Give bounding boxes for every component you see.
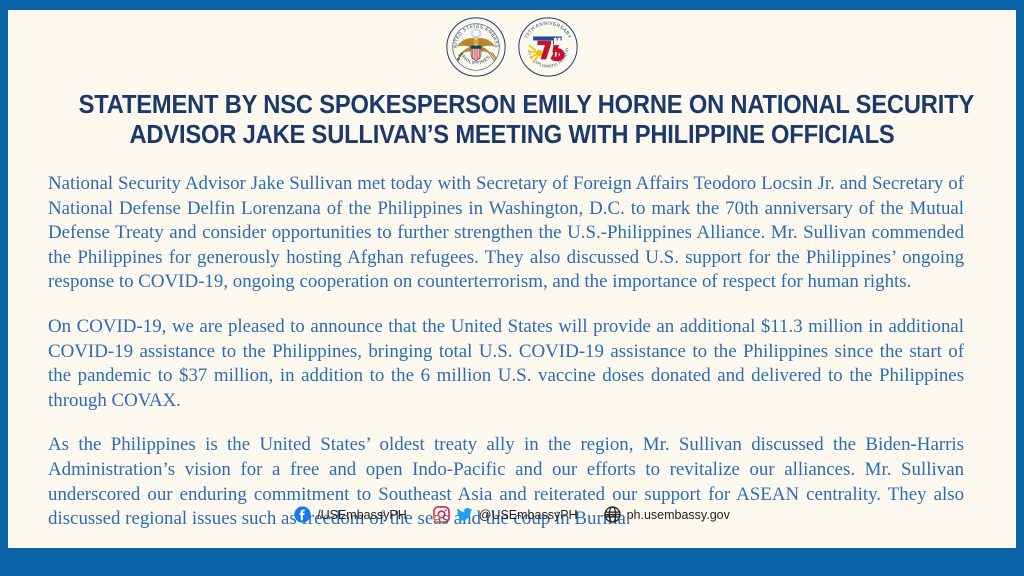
page-title-line-1: STATEMENT BY NSC SPOKESPERSON EMILY HORN… — [79, 90, 946, 120]
social-footer: /USEmbassyPH — [8, 506, 1016, 523]
website-label: ph.usembassy.gov — [627, 508, 730, 522]
instagram-icon[interactable] — [433, 506, 450, 523]
facebook-handle-group[interactable]: /USEmbassyPH — [294, 506, 407, 523]
social-handle-group[interactable]: @USEmbassyPH — [433, 506, 578, 523]
statement-graphic: UNITED STATES EMBASSY PHILIPPINES — [0, 0, 1024, 576]
social-handle-label: @USEmbassyPH — [479, 508, 578, 522]
statement-paragraph: National Security Advisor Jake Sullivan … — [48, 172, 964, 295]
page-title-line-2: ADVISOR JAKE SULLIVAN’S MEETING WITH PHI… — [79, 120, 946, 150]
bottom-accent-bar — [0, 556, 1024, 576]
content-card: UNITED STATES EMBASSY PHILIPPINES — [8, 10, 1016, 548]
statement-paragraph: On COVID-19, we are pleased to announce … — [48, 315, 964, 413]
seal-row: UNITED STATES EMBASSY PHILIPPINES — [8, 16, 1016, 78]
facebook-handle-label: /USEmbassyPH — [317, 508, 407, 522]
social-icon-set — [433, 506, 473, 523]
twitter-icon[interactable] — [456, 506, 473, 523]
facebook-icon[interactable] — [294, 506, 311, 523]
globe-icon[interactable] — [604, 506, 621, 523]
website-group[interactable]: ph.usembassy.gov — [604, 506, 730, 523]
75th-anniversary-ph-us-diplomatic-relations-seal: 75TH ANNIVERSARY PH - U.S. DIPLOMATIC RE… — [517, 16, 579, 78]
page-title: STATEMENT BY NSC SPOKESPERSON EMILY HORN… — [79, 90, 946, 150]
united-states-embassy-philippines-seal: UNITED STATES EMBASSY PHILIPPINES — [445, 16, 507, 78]
statement-body: National Security Advisor Jake Sullivan … — [48, 172, 978, 532]
